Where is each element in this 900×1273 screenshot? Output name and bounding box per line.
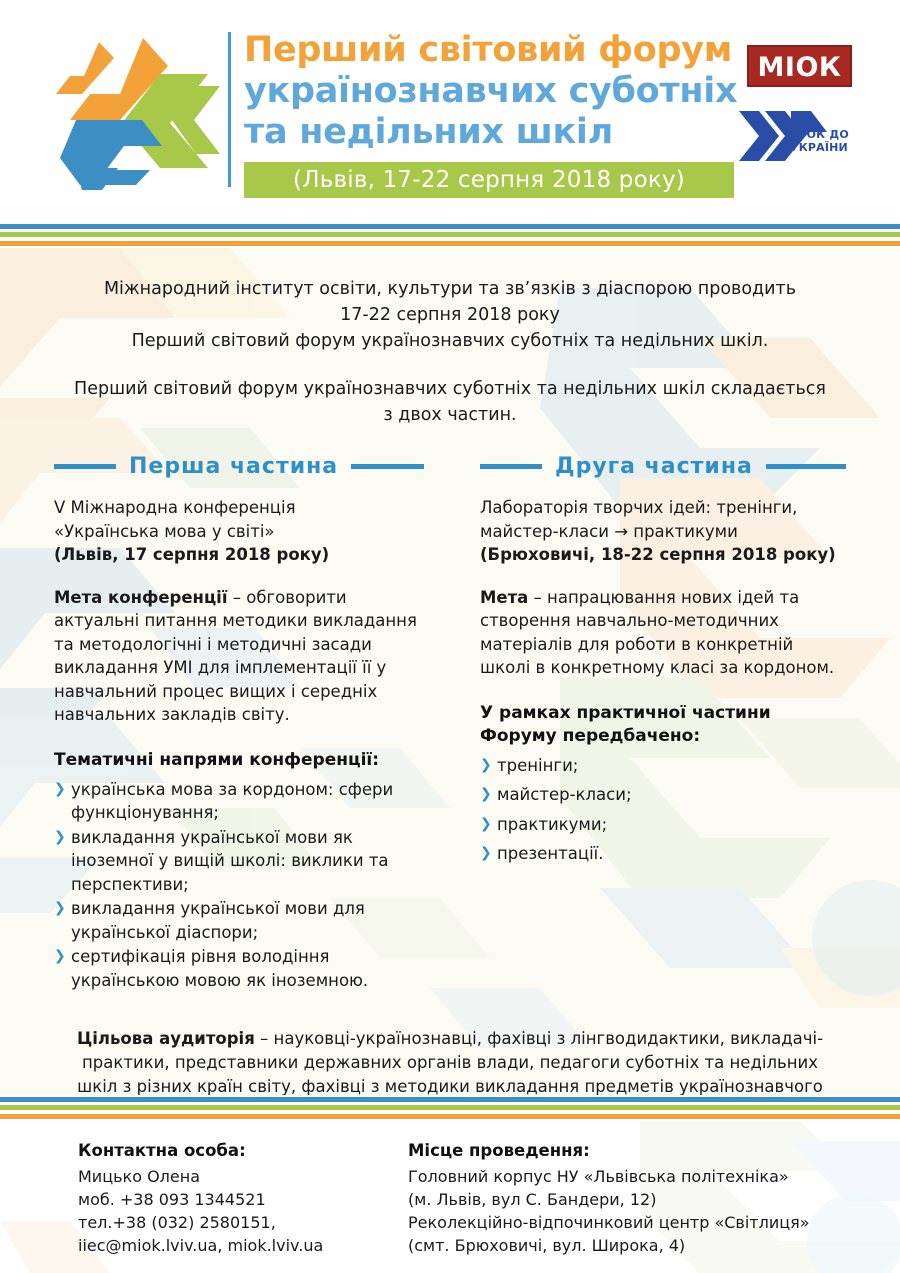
stripe-blue [0, 224, 900, 229]
part-one-event-place: (Львів, 17 серпня 2018 року) [54, 545, 329, 564]
krok-text-line-2: УКРАЇНИ [778, 141, 860, 154]
poster-body: Міжнародний інститут освіти, культури та… [0, 248, 900, 1095]
stripe-orange [0, 241, 900, 246]
venue-line-3: Реколекційно-відпочинковий центр «Світли… [408, 1211, 846, 1234]
contact-title: Контактна особа: [78, 1139, 408, 1163]
heading-rule-right [351, 464, 424, 469]
krok-text-line-1: КРОК ДО [778, 128, 860, 141]
part-one-event: V Міжнародна конференція «Українська мов… [54, 496, 424, 567]
part-one-event-line-2: «Українська мова у світі» [54, 520, 424, 544]
list-item: тренінги; [480, 754, 846, 778]
part-two-goal: Мета – напрацювання нових ідей та створе… [480, 586, 846, 680]
miok-logo: МІОК [747, 45, 852, 87]
activities-heading: У рамках практичної частини Форуму перед… [480, 702, 846, 748]
part-one-goal-label: Мета конференції [54, 588, 228, 607]
bottom-stripe-band [0, 1095, 900, 1121]
poster-footer: Контактна особа: Мицько Олена моб. +38 0… [0, 1121, 900, 1273]
venue-line-2: (м. Львів, вул С. Бандери, 12) [408, 1188, 846, 1211]
contact-block: Контактна особа: Мицько Олена моб. +38 0… [78, 1139, 408, 1257]
date-banner: (Львів, 17-22 серпня 2018 року) [244, 162, 734, 198]
forum-chevron-logo-icon [48, 28, 228, 193]
venue-title: Місце проведення: [408, 1139, 846, 1163]
intro-line-1: Міжнародний інститут освіти, культури та… [54, 276, 846, 302]
part-one-goal: Мета конференції – обговорити актуальні … [54, 586, 424, 727]
conference-poster: Перший світовий форум українознавчих суб… [0, 0, 900, 1273]
title-line-3: та недільних шкіл [244, 112, 734, 153]
activities-list: тренінги; майстер-класи; практикуми; пре… [480, 754, 846, 866]
stripe-green [0, 1105, 900, 1110]
krok-logo-text: КРОК ДО УКРАЇНИ [778, 128, 860, 154]
contact-name: Мицько Олена [78, 1165, 408, 1188]
part-two-event-line-1: Лабораторія творчих ідей: тренінги, [480, 496, 846, 520]
heading-rule-right [766, 464, 846, 469]
list-item: викладання української мови для українсь… [54, 897, 424, 944]
part-one-heading-label: Перша частина [129, 454, 338, 479]
heading-rule-left [54, 464, 116, 469]
list-item: сертифікація рівня володіння українською… [54, 945, 424, 992]
part-two-event-place: (Брюховичі, 18-22 серпня 2018 року) [480, 545, 836, 564]
activities-heading-line-2: Форуму передбачено: [480, 725, 846, 748]
venue-block: Місце проведення: Головний корпус НУ «Ль… [408, 1139, 846, 1257]
part-one-column: Перша частина V Міжнародна конференція «… [54, 454, 450, 993]
title-block: Перший світовий форум українознавчих суб… [244, 30, 734, 198]
part-one-event-line-1: V Міжнародна конференція [54, 496, 424, 520]
stripe-orange [0, 1114, 900, 1119]
top-stripe-band [0, 222, 900, 248]
contact-email[interactable]: iiec@miok.lviv.ua, miok.lviv.ua [78, 1234, 408, 1257]
intro-line-5: з двох частин. [54, 402, 846, 428]
part-two-column: Друга частина Лабораторія творчих ідей: … [450, 454, 846, 993]
logo-divider [228, 32, 231, 187]
title-line-2: українознавчих суботніх [244, 71, 734, 112]
poster-header: Перший світовий форум українознавчих суб… [0, 0, 900, 222]
topics-heading: Тематичні напрями конференції: [54, 749, 424, 772]
contact-phone: тел.+38 (032) 2580151, [78, 1211, 408, 1234]
list-item: презентації. [480, 842, 846, 866]
list-item: українська мова за кордоном: сфери функц… [54, 778, 424, 825]
list-item: майстер-класи; [480, 783, 846, 807]
intro-line-3: Перший світовий форум українознавчих суб… [54, 328, 846, 354]
part-two-heading: Друга частина [480, 454, 846, 479]
part-one-heading: Перша частина [54, 454, 424, 479]
contact-mobile: моб. +38 093 1344521 [78, 1188, 408, 1211]
target-audience: Цільова аудиторія – науковці-українознав… [54, 1027, 846, 1095]
list-item: викладання української мови як іноземної… [54, 826, 424, 897]
part-two-goal-label: Мета [480, 588, 528, 607]
part-two-goal-text: – напрацювання нових ідей та створення н… [480, 588, 834, 678]
venue-line-4: (смт. Брюховичі, вул. Широка, 4) [408, 1234, 846, 1257]
topics-list: українська мова за кордоном: сфери функц… [54, 778, 424, 993]
intro-line-4: Перший світовий форум українознавчих суб… [54, 376, 846, 402]
stripe-green [0, 232, 900, 237]
activities-heading-line-1: У рамках практичної частини [480, 702, 846, 725]
intro-paragraphs: Міжнародний інститут освіти, культури та… [54, 248, 846, 428]
heading-rule-left [480, 464, 542, 469]
target-audience-label: Цільова аудиторія [77, 1029, 255, 1048]
venue-line-1: Головний корпус НУ «Львівська політехнік… [408, 1165, 846, 1188]
intro-line-2: 17-22 серпня 2018 року [54, 302, 846, 328]
part-one-goal-text: – обговорити актуальні питання методики … [54, 588, 417, 725]
list-item: практикуми; [480, 813, 846, 837]
parts-columns: Перша частина V Міжнародна конференція «… [54, 454, 846, 993]
title-line-1: Перший світовий форум [244, 30, 734, 71]
part-two-heading-label: Друга частина [555, 454, 753, 479]
part-two-event-line-2: майстер-класи → практикуми [480, 520, 846, 544]
part-two-event: Лабораторія творчих ідей: тренінги, майс… [480, 496, 846, 567]
stripe-blue [0, 1097, 900, 1102]
